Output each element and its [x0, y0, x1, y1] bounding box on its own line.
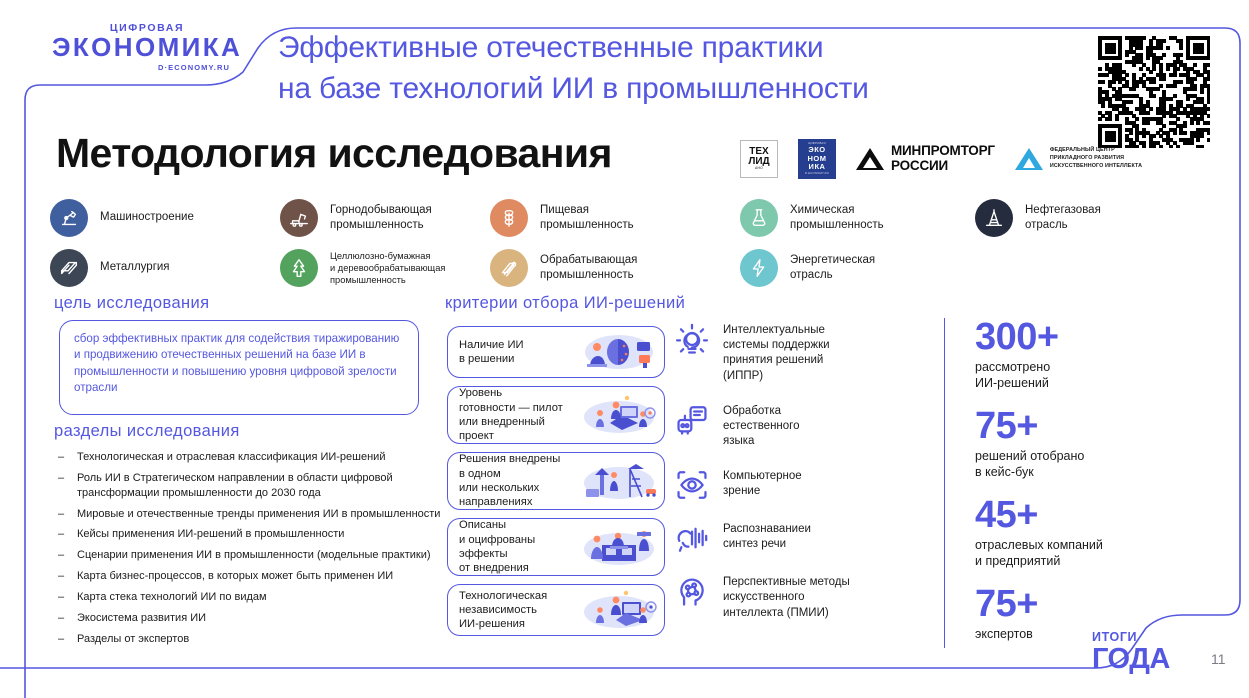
criteria-card[interactable]: Решения внедреныв одномили несколькихнап…	[447, 452, 665, 510]
page-title-line-2: на базе технологий ИИ в промышленности	[278, 69, 1078, 110]
technology-label: Интеллектуальныесистемы поддержкиприняти…	[723, 322, 830, 384]
ai-brain-illustration	[580, 330, 658, 374]
federal-center-line-2: ПРИКЛАДНОГО РАЗВИТИЯ	[1050, 155, 1142, 163]
dash-icon: –	[58, 527, 67, 542]
criteria-card-text: Решения внедреныв одномили несколькихнап…	[448, 452, 560, 509]
statistic-number: 75+	[975, 407, 1205, 445]
goal-heading: цель исследования	[54, 294, 210, 313]
criteria-heading: критерии отбора ИИ-решений	[445, 294, 685, 313]
section-list-item: –Кейсы применения ИИ-решений в промышлен…	[58, 527, 453, 542]
criteria-card-text: Наличие ИИв решении	[448, 338, 524, 367]
excavator-icon	[280, 199, 318, 237]
page-title-line-1: Эффективные отечественные практики	[278, 28, 1078, 69]
technologies-list: Интеллектуальныесистемы поддержкиприняти…	[675, 322, 925, 640]
industry-label: Обрабатывающаяпромышленность	[540, 253, 637, 283]
section-heading: Методология исследования	[56, 130, 612, 177]
statistic-number: 300+	[975, 318, 1205, 356]
brand-logo: ЦИФРОВАЯ ЭКОНОМИКА D·ECONOMY.RU	[52, 22, 242, 72]
industry-label: Металлургия	[100, 260, 170, 275]
section-list-item: –Карта стека технологий ИИ по видам	[58, 590, 453, 605]
speech-wave-icon	[675, 521, 709, 555]
criteria-card-text: Описаныи оцифрованыэффектыот внедрения	[448, 518, 535, 575]
pipes-icon	[490, 249, 528, 287]
statistic-item: 75+решений отобранов кейс-бук	[975, 407, 1205, 480]
industry-item: Энергетическаяотрасль	[740, 244, 975, 292]
criteria-card[interactable]: Уровеньготовности — пилотили внедренныйп…	[447, 386, 665, 444]
steel-beam-icon	[50, 249, 88, 287]
section-list-item: –Мировые и отечественные тренды применен…	[58, 507, 453, 522]
minpromtorg-triangle-icon	[856, 148, 884, 170]
bolt-icon	[740, 249, 778, 287]
section-list-item-text: Технологическая и отраслевая классификац…	[77, 450, 385, 465]
dash-icon: –	[58, 611, 67, 626]
federal-center-triangle-icon	[1015, 148, 1043, 170]
industry-item: Металлургия	[50, 244, 280, 292]
office-team-illustration	[580, 525, 658, 569]
section-list-item: –Карта бизнес-процессов, в которых может…	[58, 569, 453, 584]
bottom-logo-line-1: ИТОГИ	[1092, 631, 1170, 644]
industries-grid: МашиностроениеГорнодобывающаяпромышленно…	[50, 192, 1210, 292]
criteria-card[interactable]: Наличие ИИв решении	[447, 326, 665, 378]
bottom-logo-line-2: ГОДА	[1092, 644, 1170, 674]
technology-label: Перспективные методыискусственногоинтелл…	[723, 574, 850, 621]
vertical-divider	[944, 318, 945, 648]
industry-item: Пищеваяпромышленность	[490, 192, 740, 244]
brand-line-3: D·ECONOMY.RU	[52, 63, 242, 72]
technology-label: Обработкаестественногоязыка	[723, 403, 800, 450]
industry-item: Целлюлозно-бумажнаяи деревообрабатывающа…	[280, 244, 490, 292]
industry-item: Горнодобывающаяпромышленность	[280, 192, 490, 244]
wheat-icon	[490, 199, 528, 237]
partner-logo-minpromtorg: МИНПРОМТОРГ РОССИИ	[856, 144, 995, 173]
statistic-label: отраслевых компанийи предприятий	[975, 537, 1205, 569]
industry-item: Нефтегазоваяотрасль	[975, 192, 1210, 244]
slide-root: ЦИФРОВАЯ ЭКОНОМИКА D·ECONOMY.RU Эффектив…	[0, 0, 1249, 698]
section-list-item-text: Кейсы применения ИИ-решений в промышленн…	[77, 527, 344, 542]
section-list-item: –Разделы от экспертов	[58, 632, 453, 647]
partner-logo-tehlid: ТЕХ ЛИД АНО	[740, 140, 778, 178]
dash-icon: –	[58, 507, 67, 522]
section-list-item-text: Сценарии применения ИИ в промышленности …	[77, 548, 431, 563]
statistic-number: 45+	[975, 496, 1205, 534]
dash-icon: –	[58, 569, 67, 584]
robot-arm-icon	[50, 199, 88, 237]
minpromtorg-line-1: МИНПРОМТОРГ	[891, 144, 995, 159]
page-title: Эффективные отечественные практики на ба…	[278, 28, 1078, 109]
section-list-item-text: Карта бизнес-процессов, в которых может …	[77, 569, 393, 584]
industry-item: Химическаяпромышленность	[740, 192, 975, 244]
section-list-item: –Экосистема развития ИИ	[58, 611, 453, 626]
tehlid-caption: АНО	[755, 167, 763, 170]
partner-logo-cifrovaya-ekonomika: ЦИФРОВАЯ ЭКО НОМ ИКА D·ECONOMY.RU	[798, 139, 836, 179]
flask-icon	[740, 199, 778, 237]
criteria-card[interactable]: ТехнологическаянезависимостьИИ-решения	[447, 584, 665, 636]
dash-icon: –	[58, 590, 67, 605]
chatbot-icon	[675, 403, 709, 437]
power-grid-illustration	[580, 459, 658, 503]
statistics-list: 300+рассмотреноИИ-решений75+решений отоб…	[975, 318, 1205, 658]
minpromtorg-line-2: РОССИИ	[891, 159, 995, 174]
goal-box: сбор эффективных практик для содействия …	[59, 320, 419, 415]
sections-heading: разделы исследования	[54, 422, 240, 441]
statistic-item: 45+отраслевых компанийи предприятий	[975, 496, 1205, 569]
statistic-label: решений отобранов кейс-бук	[975, 448, 1205, 480]
dash-icon: –	[58, 471, 67, 501]
brand-line-2: ЭКОНОМИКА	[52, 34, 242, 61]
technology-item: Компьютерноезрение	[675, 468, 925, 502]
criteria-card-text: ТехнологическаянезависимостьИИ-решения	[448, 589, 547, 632]
criteria-cards: Наличие ИИв решенииУровеньготовности — п…	[447, 326, 665, 644]
technology-item: Перспективные методыискусственногоинтелл…	[675, 574, 925, 621]
section-list-item: –Технологическая и отраслевая классифика…	[58, 450, 453, 465]
industry-label: Пищеваяпромышленность	[540, 203, 634, 233]
dash-icon: –	[58, 632, 67, 647]
oil-rig-icon	[975, 199, 1013, 237]
statistic-item: 300+рассмотреноИИ-решений	[975, 318, 1205, 391]
dash-icon: –	[58, 450, 67, 465]
section-list-item: –Роль ИИ в Стратегическом направлении в …	[58, 471, 453, 501]
partner-logos: ТЕХ ЛИД АНО ЦИФРОВАЯ ЭКО НОМ ИКА D·ECONO…	[740, 139, 1142, 179]
statistic-number: 75+	[975, 585, 1205, 623]
section-list-item-text: Разделы от экспертов	[77, 632, 189, 647]
industry-label: Машиностроение	[100, 210, 194, 225]
industry-label: Горнодобывающаяпромышленность	[330, 203, 432, 233]
qr-code-icon[interactable]	[1098, 36, 1210, 148]
statistic-label: рассмотреноИИ-решений	[975, 359, 1205, 391]
partner-logo-federal-center: ФЕДЕРАЛЬНЫЙ ЦЕНТР ПРИКЛАДНОГО РАЗВИТИЯ И…	[1015, 147, 1142, 170]
statistic-item: 75+экспертов	[975, 585, 1205, 642]
technology-label: Распознаваниеисинтез речи	[723, 521, 811, 552]
lightbulb-icon	[675, 322, 709, 356]
industry-label: Химическаяпромышленность	[790, 203, 884, 233]
section-list-item-text: Экосистема развития ИИ	[77, 611, 206, 626]
technology-item: Обработкаестественногоязыка	[675, 403, 925, 450]
industry-label: Нефтегазоваяотрасль	[1025, 203, 1101, 233]
ai-head-icon	[675, 574, 709, 608]
criteria-card[interactable]: Описаныи оцифрованыэффектыот внедрения	[447, 518, 665, 576]
section-list-item-text: Карта стека технологий ИИ по видам	[77, 590, 267, 605]
industry-label: Целлюлозно-бумажнаяи деревообрабатывающа…	[330, 250, 445, 286]
section-list-item-text: Мировые и отечественные тренды применени…	[77, 507, 440, 522]
bottom-logo: ИТОГИ ГОДА	[1092, 631, 1170, 674]
industry-item: Обрабатывающаяпромышленность	[490, 244, 740, 292]
econ-footer: D·ECONOMY.RU	[805, 172, 829, 175]
technology-item: Интеллектуальныесистемы поддержкиприняти…	[675, 322, 925, 384]
developer-illustration	[580, 588, 658, 632]
laptop-team-illustration	[580, 393, 658, 437]
sections-list: –Технологическая и отраслевая классифика…	[58, 450, 453, 652]
federal-center-line-3: ИСКУССТВЕННОГО ИНТЕЛЛЕКТА	[1050, 163, 1142, 171]
section-list-item-text: Роль ИИ в Стратегическом направлении в о…	[77, 471, 453, 501]
criteria-card-text: Уровеньготовности — пилотили внедренныйп…	[448, 386, 563, 443]
dash-icon: –	[58, 548, 67, 563]
industry-item: Машиностроение	[50, 192, 280, 244]
technology-item: Распознаваниеисинтез речи	[675, 521, 925, 555]
tree-icon	[280, 249, 318, 287]
eye-scan-icon	[675, 468, 709, 502]
page-number: 11	[1211, 651, 1226, 667]
section-list-item: –Сценарии применения ИИ в промышленности…	[58, 548, 453, 563]
federal-center-line-1: ФЕДЕРАЛЬНЫЙ ЦЕНТР	[1050, 147, 1142, 155]
statistic-label: экспертов	[975, 626, 1205, 642]
industry-label: Энергетическаяотрасль	[790, 253, 875, 283]
technology-label: Компьютерноезрение	[723, 468, 802, 499]
